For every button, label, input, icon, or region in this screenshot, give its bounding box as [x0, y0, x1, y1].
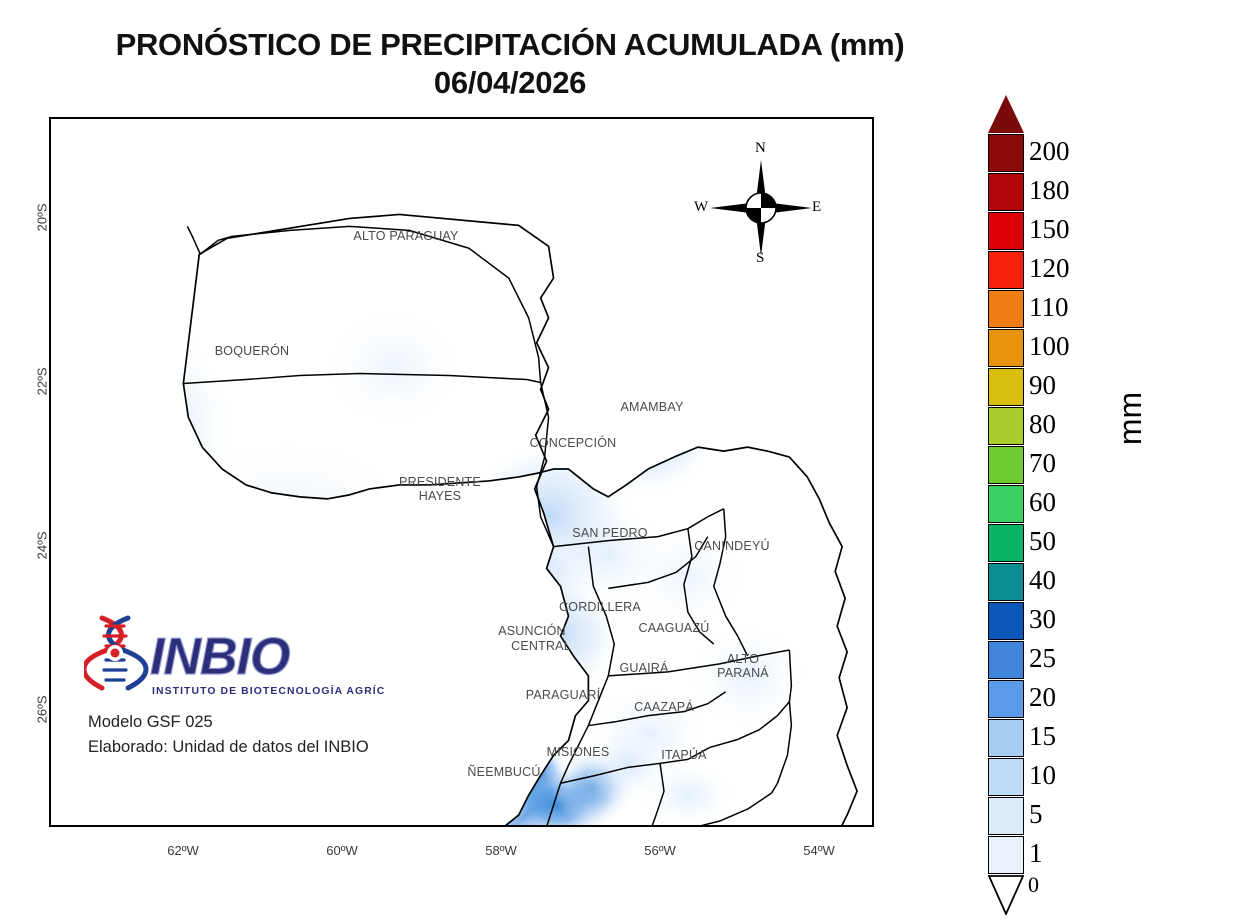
- colorbar-tick-label: 10: [1029, 762, 1056, 789]
- colorbar-tick-label: 70: [1029, 450, 1056, 477]
- colorbar-swatch[interactable]: 150: [988, 212, 1024, 250]
- colorbar-swatch[interactable]: 25: [988, 641, 1024, 679]
- x-tick-label: 60ºW: [307, 843, 377, 858]
- y-tick-label: 24ºS: [35, 532, 50, 574]
- colorbar-swatch[interactable]: 60: [988, 485, 1024, 523]
- department-label: CENTRAL: [511, 639, 571, 653]
- title-line-2: 06/04/2026: [0, 64, 1020, 102]
- department-label: ASUNCIÓN: [498, 624, 566, 638]
- compass-rose: N S W E: [696, 142, 826, 274]
- colorbar-swatch[interactable]: 40: [988, 563, 1024, 601]
- department-label: ÑEEMBUCÚ: [467, 765, 540, 779]
- colorbar-tick-label: 60: [1029, 489, 1056, 516]
- compass-label-north: N: [755, 140, 766, 157]
- colorbar-tick-label: 40: [1029, 567, 1056, 594]
- credits-block: Modelo GSF 025 Elaborado: Unidad de dato…: [88, 710, 369, 760]
- colorbar-swatch[interactable]: 10: [988, 758, 1024, 796]
- colorbar[interactable]: 2001801501201101009080706050403025201510…: [988, 95, 1024, 920]
- department-label: GUAIRÁ: [619, 661, 668, 675]
- inbio-logo: INBIO INSTITUTO DE BIOTECNOLOGÍA AGRÍCOL…: [84, 612, 384, 700]
- colorbar-tick-label: 180: [1029, 177, 1070, 204]
- y-tick-label: 26ºS: [35, 696, 50, 738]
- y-tick-label: 20ºS: [35, 204, 50, 246]
- department-label: CAAZAPÁ: [634, 700, 694, 714]
- colorbar-tick-label: 120: [1029, 255, 1070, 282]
- dna-helix-icon: [84, 618, 146, 688]
- colorbar-over-arrow: [988, 95, 1024, 133]
- department-label: ITAPÚA: [661, 748, 706, 762]
- colorbar-swatch[interactable]: 200: [988, 134, 1024, 172]
- x-tick-label: 62ºW: [148, 843, 218, 858]
- compass-label-south: S: [756, 250, 764, 267]
- colorbar-tick-label: 50: [1029, 528, 1056, 555]
- colorbar-swatch[interactable]: 5: [988, 797, 1024, 835]
- department-label: MISIONES: [547, 745, 610, 759]
- colorbar-unit-label: mm: [1112, 392, 1149, 445]
- colorbar-swatch[interactable]: 30: [988, 602, 1024, 640]
- colorbar-tick-label: 5: [1029, 801, 1043, 828]
- colorbar-tick-label: 15: [1029, 723, 1056, 750]
- department-label: CAAGUAZÚ: [638, 621, 709, 635]
- colorbar-tick-label: 25: [1029, 645, 1056, 672]
- department-label: AMAMBAY: [621, 400, 684, 414]
- department-label: ALTO PARAGUAY: [353, 229, 458, 243]
- colorbar-tick-label: 90: [1029, 372, 1056, 399]
- colorbar-under-arrow: [988, 875, 1024, 915]
- compass-label-west: W: [694, 199, 708, 216]
- colorbar-tick-label: 80: [1029, 411, 1056, 438]
- colorbar-tick-label: 200: [1029, 138, 1070, 165]
- colorbar-swatch[interactable]: 100: [988, 329, 1024, 367]
- colorbar-tick-label: 100: [1029, 333, 1070, 360]
- colorbar-swatch[interactable]: 180: [988, 173, 1024, 211]
- colorbar-tick-label: 20: [1029, 684, 1056, 711]
- inbio-tagline: INSTITUTO DE BIOTECNOLOGÍA AGRÍCOLA: [152, 684, 384, 697]
- colorbar-swatch[interactable]: 20: [988, 680, 1024, 718]
- department-label: ALTO PARANÁ: [717, 652, 769, 680]
- colorbar-swatch[interactable]: 120: [988, 251, 1024, 289]
- colorbar-zero-label: 0: [1028, 872, 1039, 898]
- department-label: PARAGUARÍ: [526, 688, 601, 702]
- colorbar-tick-label: 150: [1029, 216, 1070, 243]
- colorbar-swatch[interactable]: 110: [988, 290, 1024, 328]
- department-label: CONCEPCIÓN: [530, 436, 617, 450]
- model-label: Modelo GSF 025: [88, 710, 369, 735]
- colorbar-swatch[interactable]: 50: [988, 524, 1024, 562]
- colorbar-tick-label: 110: [1029, 294, 1069, 321]
- x-tick-label: 56ºW: [625, 843, 695, 858]
- colorbar-swatch[interactable]: 80: [988, 407, 1024, 445]
- colorbar-tick-label: 30: [1029, 606, 1056, 633]
- page-title: PRONÓSTICO DE PRECIPITACIÓN ACUMULADA (m…: [0, 26, 1020, 102]
- colorbar-swatch[interactable]: 1: [988, 836, 1024, 874]
- colorbar-tick-label: 1: [1029, 840, 1043, 867]
- y-tick-label: 22ºS: [35, 368, 50, 410]
- department-label: SAN PEDRO: [572, 526, 647, 540]
- department-label: CORDILLERA: [559, 600, 641, 614]
- department-label: BOQUERÓN: [215, 344, 290, 358]
- inbio-wordmark: INBIO: [150, 628, 290, 686]
- x-tick-label: 54ºW: [784, 843, 854, 858]
- colorbar-swatch[interactable]: 15: [988, 719, 1024, 757]
- inbio-logo-icon: INBIO INSTITUTO DE BIOTECNOLOGÍA AGRÍCOL…: [84, 612, 384, 700]
- colorbar-swatch[interactable]: 90: [988, 368, 1024, 406]
- x-tick-label: 58ºW: [466, 843, 536, 858]
- colorbar-swatch[interactable]: 70: [988, 446, 1024, 484]
- department-label: PRESIDENTE HAYES: [399, 475, 481, 503]
- colorbar-swatches[interactable]: 2001801501201101009080706050403025201510…: [988, 134, 1024, 874]
- title-line-1: PRONÓSTICO DE PRECIPITACIÓN ACUMULADA (m…: [0, 26, 1020, 64]
- compass-label-east: E: [812, 199, 821, 216]
- author-label: Elaborado: Unidad de datos del INBIO: [88, 735, 369, 760]
- department-label: CANINDEYÚ: [694, 539, 769, 553]
